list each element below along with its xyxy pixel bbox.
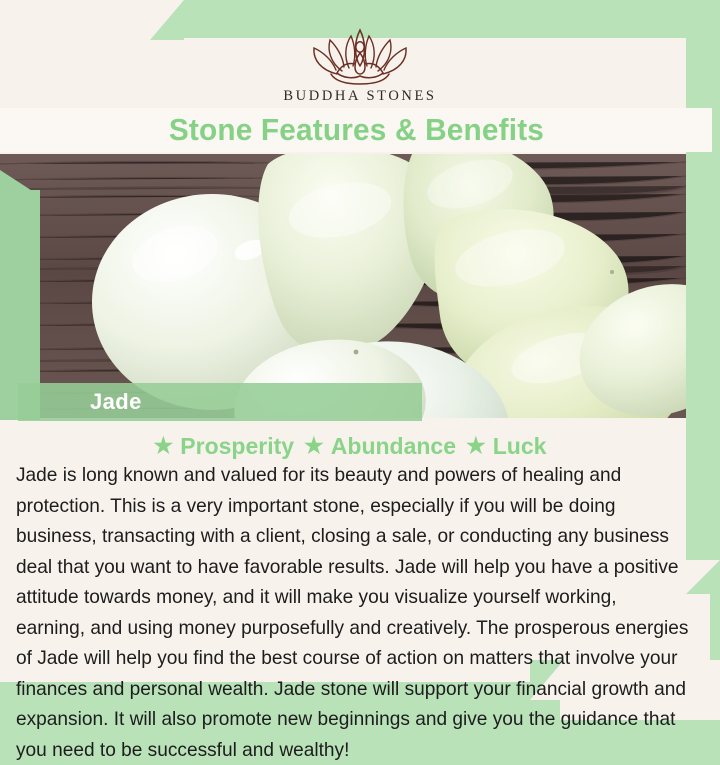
jade-stones-illustration — [0, 154, 686, 418]
star-icon: ★ — [154, 435, 174, 457]
keyword-abundance: ★ Abundance — [304, 433, 456, 460]
keyword-label: Prosperity — [180, 433, 294, 460]
keyword-label: Luck — [493, 433, 547, 460]
lotus-meditation-icon — [301, 24, 419, 86]
right-strip-diagonal-end — [686, 560, 720, 594]
keyword-luck: ★ Luck — [466, 433, 546, 460]
keyword-list: ★ Prosperity ★ Abundance ★ Luck — [0, 430, 700, 462]
keyword-prosperity: ★ Prosperity — [154, 433, 295, 460]
left-strip-diagonal-top — [0, 170, 40, 196]
brand-logo: BUDDHA STONES — [0, 24, 720, 112]
page-title: Stone Features & Benefits — [168, 112, 543, 148]
jade-stones-photo — [0, 154, 686, 418]
brand-wordmark: BUDDHA STONES — [283, 88, 436, 105]
stone-caption-bar: Jade — [18, 383, 422, 421]
title-banner: Stone Features & Benefits — [0, 108, 712, 152]
star-icon: ★ — [304, 435, 324, 457]
stone-name-label: Jade — [90, 389, 142, 415]
keyword-label: Abundance — [331, 433, 456, 460]
stone-description: Jade is long known and valued for its be… — [16, 460, 690, 765]
star-icon: ★ — [466, 435, 486, 457]
